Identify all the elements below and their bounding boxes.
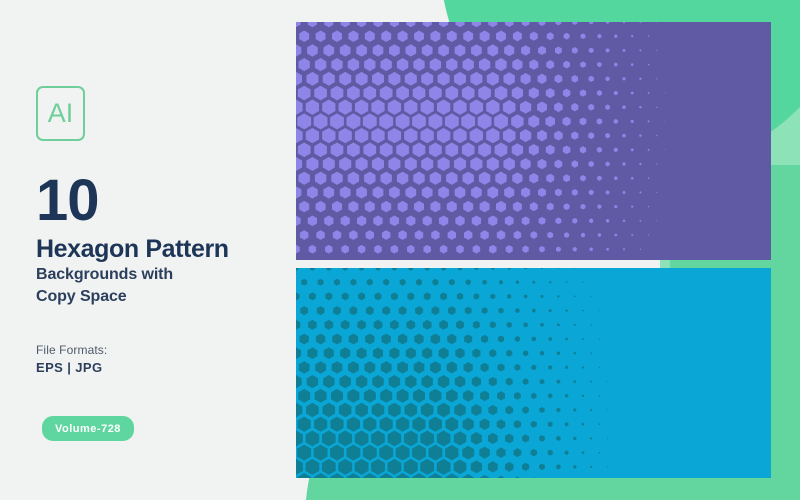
promo-canvas: AI 10 Hexagon Pattern Backgrounds with C… xyxy=(0,0,800,500)
adobe-illustrator-badge-label: AI xyxy=(48,100,74,127)
page-subtitle-line-1: Backgrounds with xyxy=(36,264,173,286)
page-subtitle-line-2: Copy Space xyxy=(36,286,173,308)
purple-hexagon-halftone-panel xyxy=(296,22,771,260)
purple-hexagon-pattern xyxy=(296,22,771,260)
page-subtitle: Backgrounds with Copy Space xyxy=(36,264,173,307)
volume-badge-label: Volume-728 xyxy=(55,423,121,435)
info-column: AI 10 Hexagon Pattern Backgrounds with C… xyxy=(36,0,286,500)
cyan-hexagon-halftone-panel xyxy=(296,268,771,478)
file-formats-label: File Formats: xyxy=(36,343,107,357)
file-formats-value: EPS | JPG xyxy=(36,360,103,375)
adobe-illustrator-badge-icon: AI xyxy=(36,86,85,141)
volume-badge: Volume-728 xyxy=(42,416,134,441)
cyan-hexagon-pattern xyxy=(296,268,771,478)
item-count: 10 xyxy=(36,172,99,230)
page-title: Hexagon Pattern xyxy=(36,235,229,263)
